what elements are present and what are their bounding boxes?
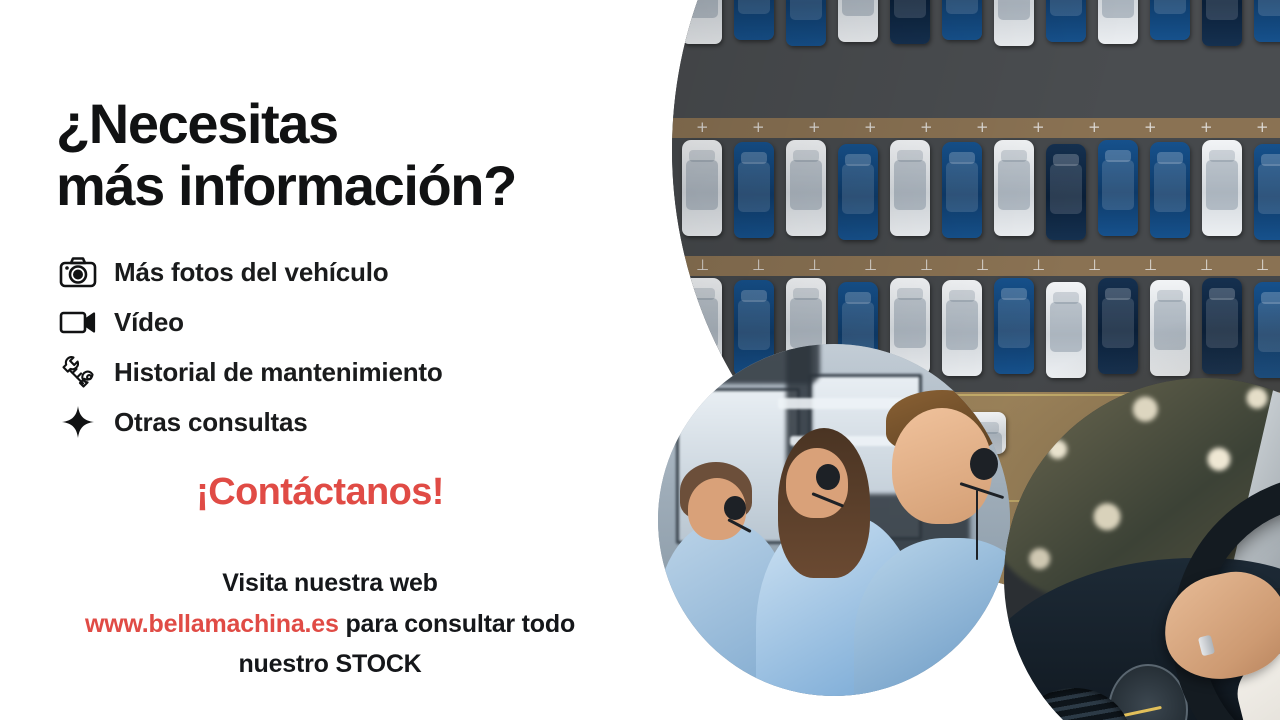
aerial-parking-lot-photo: + + + + + + + + + + + + + + + <box>672 0 1280 600</box>
list-item-label: Vídeo <box>114 307 184 338</box>
list-item-maintenance-history: Historial de mantenimiento <box>56 347 616 397</box>
website-footer: Visita nuestra web www.bellamachina.es p… <box>0 563 660 685</box>
list-item-other-enquiries: Otras consultas <box>56 397 616 447</box>
contact-cta-text: ¡Contáctanos! <box>0 471 640 514</box>
sparkle-icon <box>56 402 100 442</box>
list-item-label: Historial de mantenimiento <box>114 357 443 388</box>
footer-line-2: www.bellamachina.es para consultar todo <box>0 604 660 645</box>
list-item-label: Otras consultas <box>114 407 308 438</box>
list-item-more-photos: Más fotos del vehículo <box>56 247 616 297</box>
website-url[interactable]: www.bellamachina.es <box>85 610 339 638</box>
benefits-list: Más fotos del vehículo Vídeo <box>56 247 616 447</box>
wrench-tools-icon <box>56 352 100 392</box>
video-camera-icon <box>56 302 100 342</box>
list-item-video: Vídeo <box>56 297 616 347</box>
headline-line-1: ¿Necesitas <box>56 92 338 155</box>
call-center-agents-photo <box>658 344 1010 696</box>
promo-poster: + + + + + + + + + + + + + + + <box>0 0 1280 720</box>
headline-line-2: más información? <box>56 155 716 218</box>
driver-steering-wheel-photo <box>1004 378 1280 720</box>
footer-line-2-rest: para consultar todo <box>339 610 575 638</box>
camera-icon <box>56 252 100 292</box>
page-title: ¿Necesitas más información? <box>56 93 716 218</box>
footer-line-3: nuestro STOCK <box>0 644 660 685</box>
footer-line-1: Visita nuestra web <box>0 563 660 604</box>
list-item-label: Más fotos del vehículo <box>114 257 388 288</box>
